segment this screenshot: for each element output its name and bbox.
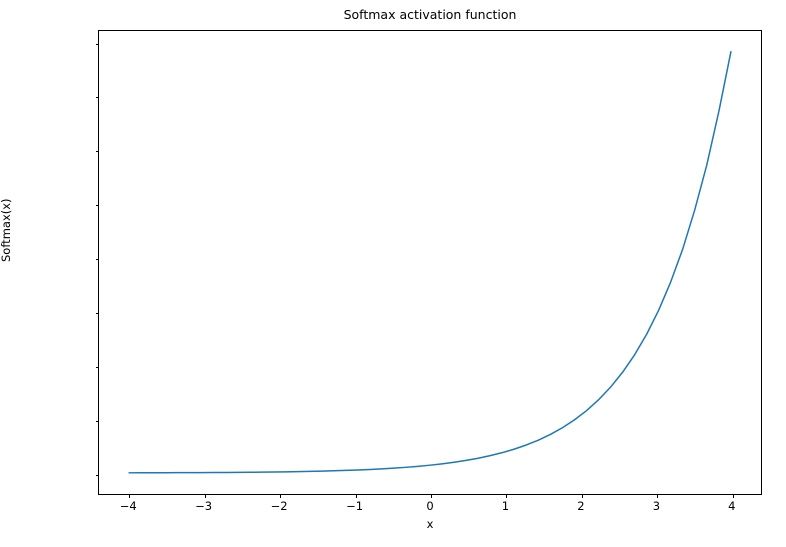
y-tick-mark: [96, 313, 100, 314]
chart-title: Softmax activation function: [98, 7, 762, 22]
x-tick-label: −4: [120, 500, 137, 513]
y-tick-mark: [96, 151, 100, 152]
x-tick-mark: [129, 494, 130, 498]
y-tick-mark: [96, 44, 100, 45]
x-tick-label: 2: [577, 500, 584, 513]
plot-area: [99, 31, 761, 494]
y-tick-mark: [96, 421, 100, 422]
x-tick-mark: [733, 494, 734, 498]
y-tick-mark: [96, 259, 100, 260]
y-axis-label: Softmax(x): [0, 198, 13, 262]
x-tick-mark: [205, 494, 206, 498]
x-tick-mark: [582, 494, 583, 498]
x-tick-label: −1: [346, 500, 363, 513]
x-tick-label: 0: [426, 500, 433, 513]
x-axis-label: x: [98, 518, 762, 531]
y-tick-mark: [96, 97, 100, 98]
x-tick-mark: [280, 494, 281, 498]
y-tick-mark: [96, 205, 100, 206]
matplotlib-figure: Softmax activation function x Softmax(x)…: [0, 0, 786, 547]
x-tick-mark: [657, 494, 658, 498]
y-tick-mark: [96, 367, 100, 368]
y-tick-mark: [96, 475, 100, 476]
plot-axes: [98, 30, 762, 495]
x-tick-label: 4: [728, 500, 735, 513]
x-tick-label: 1: [502, 500, 509, 513]
softmax-curve: [129, 52, 731, 473]
x-tick-mark: [431, 494, 432, 498]
x-tick-label: 3: [653, 500, 660, 513]
x-tick-mark: [506, 494, 507, 498]
x-tick-mark: [356, 494, 357, 498]
x-tick-label: −2: [271, 500, 288, 513]
x-tick-label: −3: [195, 500, 212, 513]
